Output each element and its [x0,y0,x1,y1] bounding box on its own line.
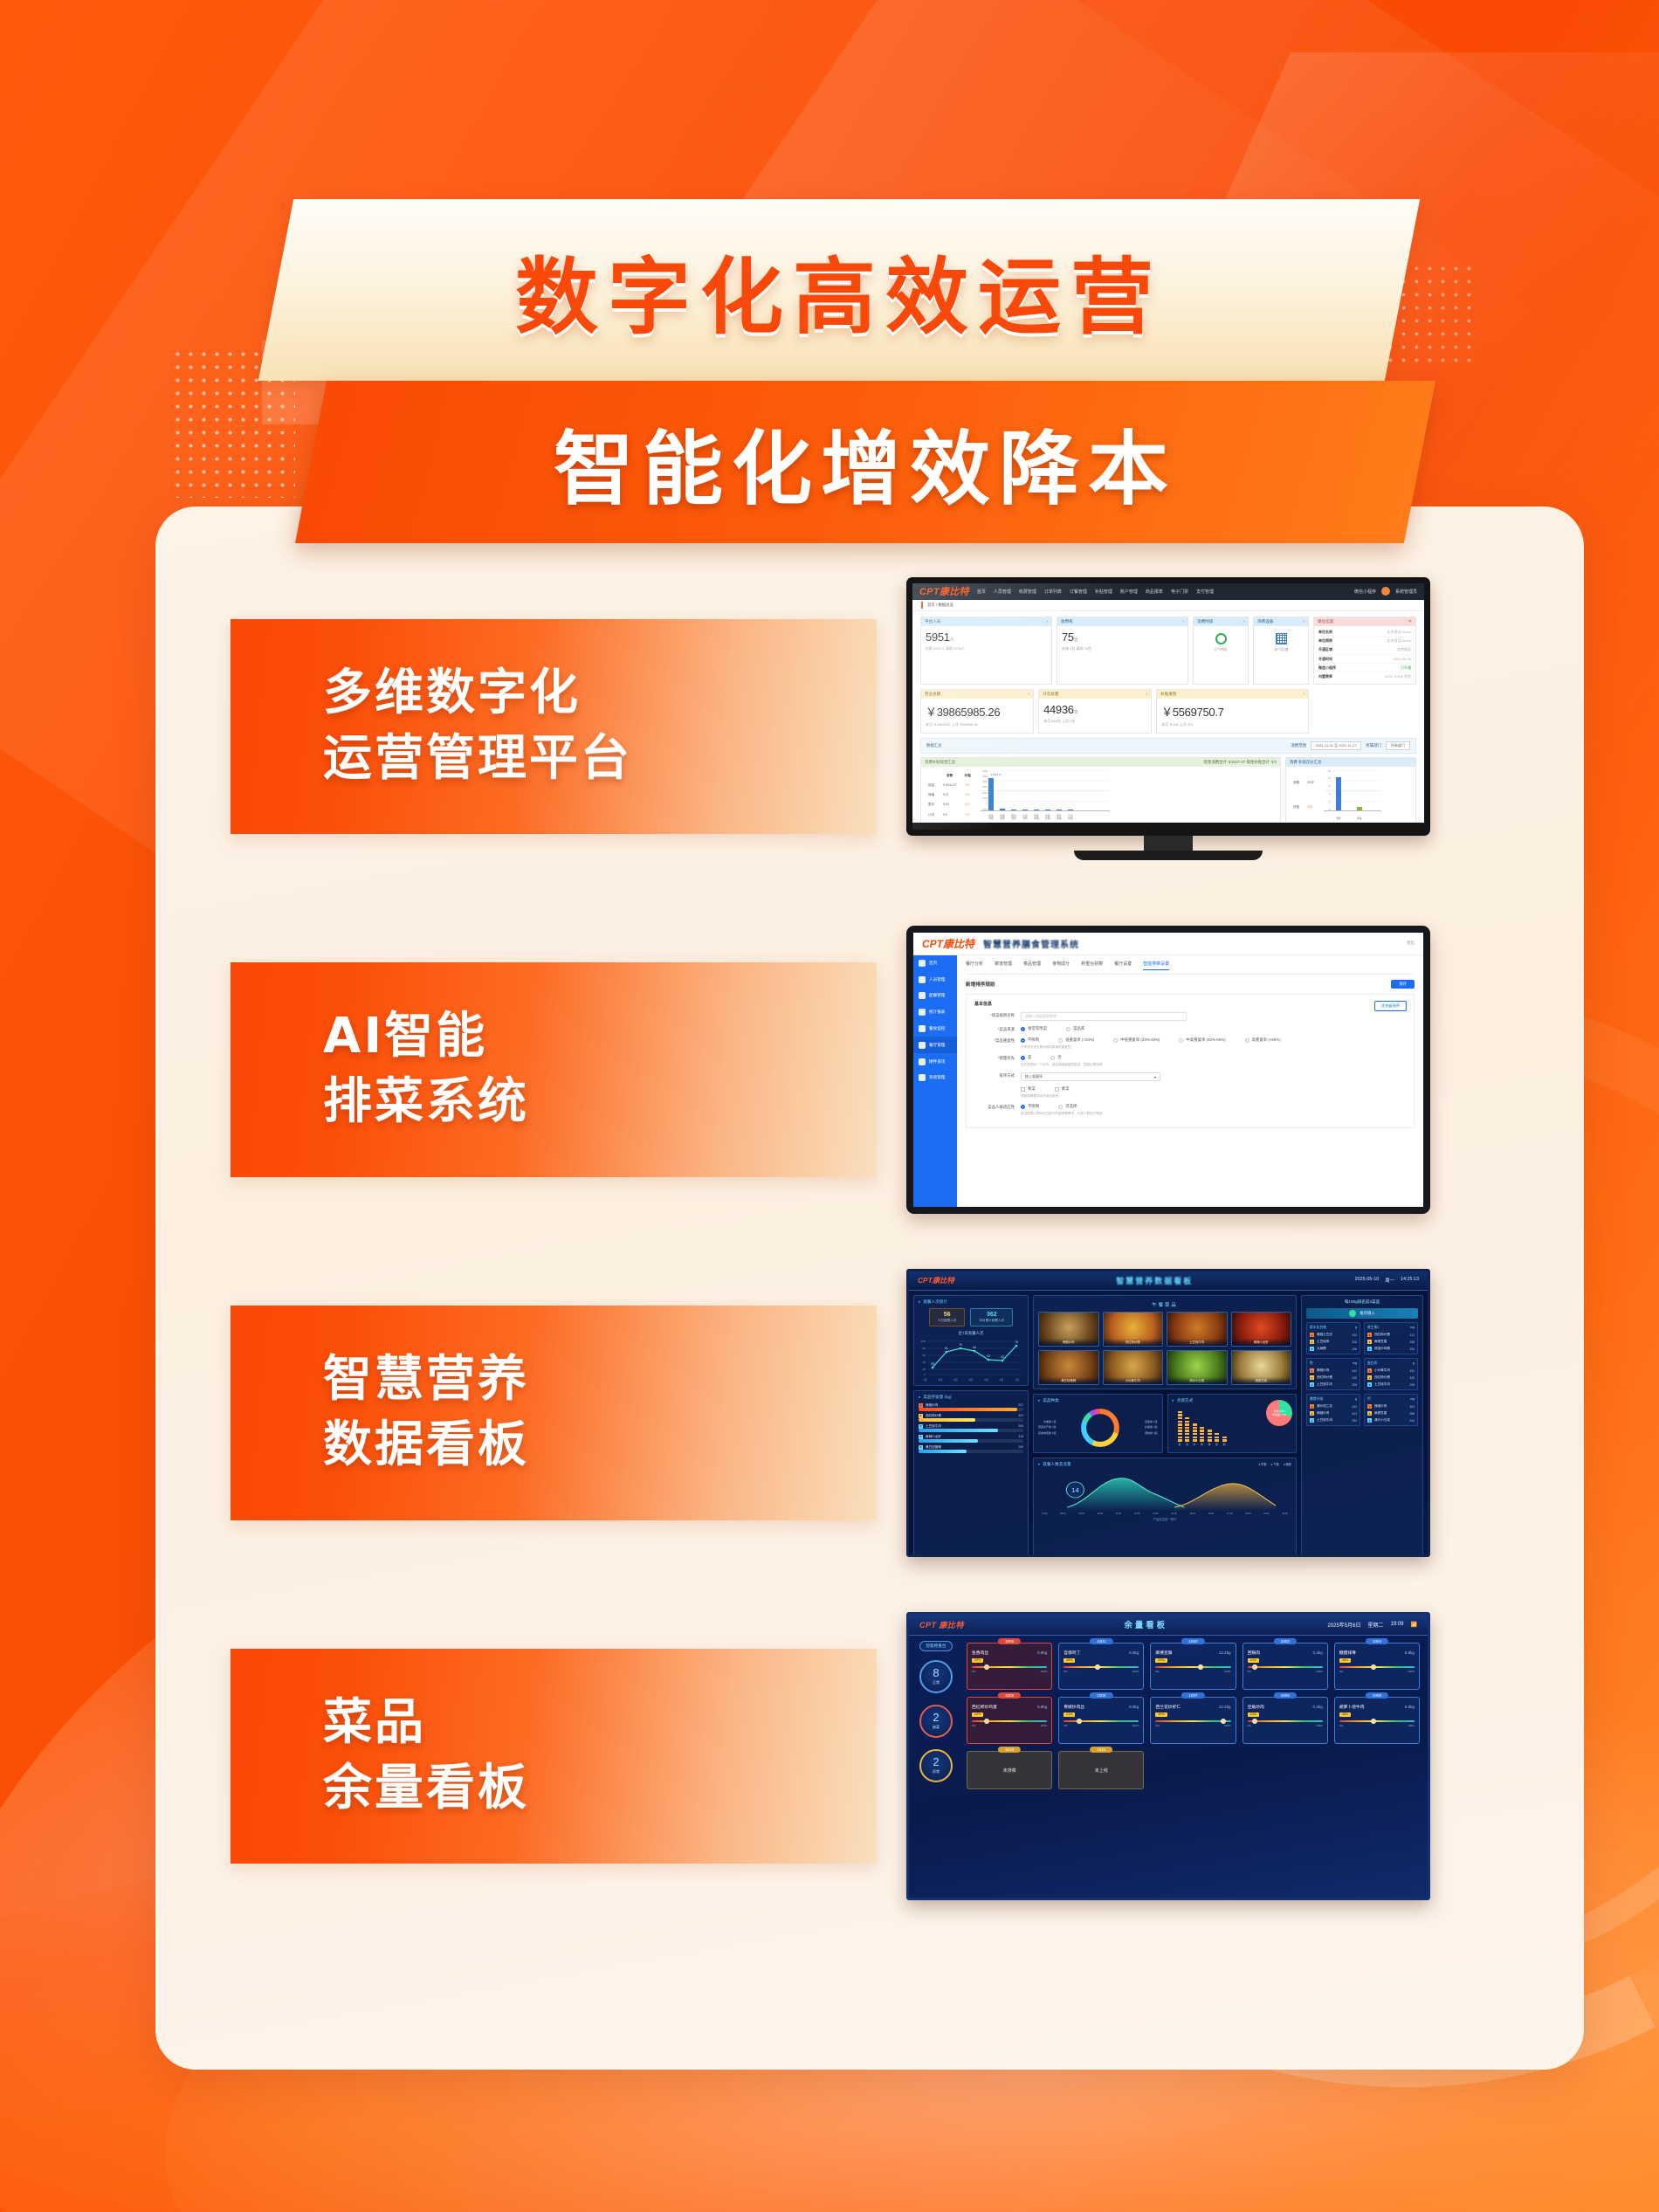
station-id: 1011 [1090,1747,1112,1753]
svg-text:100: 100 [921,1340,926,1343]
station-id: 1004 [1366,1638,1388,1644]
dish-tile[interactable]: 小炒黄牛肉 [1103,1350,1164,1385]
ops-body: 平台人员› 5951人 在职 3247人 离职 2704人 收费机› [912,611,1424,823]
title-line-2: 智能化增效降本 [311,381,1420,543]
station-weight: 12.2kg [1219,1705,1231,1709]
station-weight: 0.3kg [1313,1650,1323,1655]
sidebar-item-restaurant[interactable]: 餐厅管理 [913,1037,957,1053]
stat-card-header: 营业总额 [925,692,940,697]
cash-subsidy-table: 消费 补贴 现金￥5344.27￥0 储值￥27￥0 限次￥50￥0 计次￥6￥… [925,770,977,821]
radio-icon [1113,1038,1118,1043]
form-section-title: 基本信息 [974,1001,1406,1007]
nutrient-card: 膳食纤维g 1清炒西兰花432 2辣椒炒肉323 3土豆烧牛肉290 [1306,1394,1360,1426]
avatar[interactable] [1381,587,1390,596]
station-empty-label: 未上线 [1095,1768,1108,1774]
station-weight: 0.2kg [1313,1705,1323,1709]
pane-header: 消费补贴现金汇总 [925,760,955,765]
station-progress [1339,1720,1415,1723]
feature-card-3-line1: 智慧营养 [323,1347,877,1412]
ops-miniprogram-link[interactable]: 微信小程序 [1354,589,1376,595]
feature-card-2[interactable]: AI智能 排菜系统 [231,962,877,1177]
station-id: 1005 [998,1692,1021,1699]
stat-card-header: 收费机 [1061,619,1073,624]
unit-info-key: 内置费率 [1318,674,1332,679]
nutrition-right-col: 每100g排名前3菜品 推荐摄入 碳水化合物g 1辣椒土豆丝432 [1301,1295,1423,1555]
ai-sidebar: 首页 人员管理 配餐管理 统计报表 餐食监控 餐厅管理 硬件资讯 系统管理 [913,933,957,1207]
priority-sort-button[interactable]: 优先级排序 [1374,1001,1407,1011]
feature-rows: 多维数字化 运营管理平台 CPT康比特 首页 人员管理 收费管理 订单列表 [231,571,1530,1911]
unit-info-value: 已开通 [1401,665,1411,671]
dish-types-panel: 菜品种类 水果类 1道 蔬菜水产类 2道 畜禽肉蛋类 2道 [1033,1394,1163,1453]
chevron-right-icon: › [1046,619,1048,624]
stat-card-unit: 人 [950,637,954,643]
field-hint: 只考虑所选天数内相同菜谱的重复性 [1021,1045,1406,1050]
stat-card[interactable]: 收费机› 75台 在线 1台 离线 74台 [1057,617,1188,685]
screenshot-residual-board: CPT 康比特 余量看板 2025年5月6日 星期二 19:09 📶 智能称重台 [906,1612,1430,1900]
pie-label: 调味类 4道 [1145,1430,1158,1436]
flow-panel: 就餐人数及流量 ● 早餐 ● 午餐 ● 晚餐 [1033,1457,1297,1555]
dish-types-donut-chart [1081,1409,1119,1447]
stat-card-sub: 本月 ￥4663251 上月 ￥69666.15 [926,722,1029,727]
icon-stat-card[interactable]: 消费设备› 38个区域 [1253,617,1309,685]
tv-stand-base [1074,851,1263,860]
svg-text:42: 42 [1001,1355,1004,1359]
feature-card-1-line1: 多维数字化 [323,661,877,726]
unit-info-header: 单位信息 [1318,619,1333,624]
ops-brand-logo: CPT康比特 [919,584,969,598]
tab-smart-menu-settings[interactable]: 智能排菜设置 [1143,961,1169,970]
station-progress [1155,1720,1230,1723]
station-id: 1009 [1366,1692,1388,1699]
sidebar-item-hardware[interactable]: 硬件资讯 [913,1053,957,1070]
tab-dish-mgmt[interactable]: 菜品管理 [1023,961,1041,970]
table-row: 消费20次 [1291,772,1318,795]
svg-text:60: 60 [923,1354,926,1357]
ai-tabbar: 餐厅分析 菜谱管理 菜品管理 食物成分 称重台别菜 餐厅设置 智能排菜设置 [966,955,1415,975]
recommend-button[interactable]: 推荐摄入 [1306,1308,1418,1320]
station-weight: 6.8kg [1129,1650,1139,1655]
unit-info-key: 开通区域 [1318,647,1332,652]
stat-card-value: 44936 [1043,703,1074,716]
chevron-right-icon: › [1303,619,1304,624]
field-label: 菜品人群适应性 [988,1105,1015,1109]
nutrient-card: 碳水化合物g 1辣椒土豆丝432 2土豆烧肉328 3大闸蟹296 [1306,1322,1360,1354]
flow-area-chart: 14 [1038,1467,1291,1513]
tab-weighing-station[interactable]: 称重台别菜 [1081,961,1103,970]
station-progress [1064,1666,1139,1669]
radio-sales-yes[interactable]: 是 [1021,1055,1031,1060]
radio-icon [1058,1038,1063,1043]
dish-tile[interactable]: 清炒小白菜 [1167,1350,1228,1385]
residual-date: 2025年5月6日 [1327,1621,1360,1629]
station-cell[interactable]: 1000 鱼香肉丝0.8kg 20% 0%100% [967,1643,1052,1690]
kpi-today-diners: 56 今日就餐人次 [929,1308,966,1327]
nutrition-left-col: 就餐人次统计 56 今日就餐人次 362 本月累计就餐人次 [913,1295,1029,1555]
ops-navbar: CPT康比特 首页 人员管理 收费管理 订单列表 订餐管理 补贴管理 账户管理 … [912,583,1424,600]
legend-dinner: ● 晚餐 [1284,1462,1291,1466]
counter-abnormal: 2 异常 [919,1749,953,1782]
feature-row-4: 菜品 余量看板 CPT 康比特 余量看板 2025年5月6日 星期二 19:09… [231,1601,1530,1911]
field-hint: 优先选择近一个月内、菜品销量最高的菜品，提高出餐效率 [1021,1063,1406,1067]
sidebar-item-reports[interactable]: 统计报表 [913,1004,957,1021]
unit-info-value: 北京测试 Demo [1387,638,1411,644]
station-cell[interactable]: 1001 宫保鸡丁6.8kg 45% 0%100% [1058,1643,1144,1690]
station-progress [1248,1720,1323,1723]
ops-nav-item[interactable]: 人员管理 [994,589,1011,595]
table-row: 现金￥5344.27￥0 [926,782,975,789]
station-weight: 6.8kg [1405,1705,1415,1709]
station-percent: 20% [972,1712,983,1717]
home-icon [919,960,926,967]
icon-card-label: 38个区域 [1258,647,1304,652]
lunch-dish-grid: 辣椒炒肉 西红柿炒蛋 土豆烧牛肉 麻辣小龙虾 黄豆烧猪蹄 小炒黄牛肉 清炒小白菜… [1038,1312,1291,1385]
station-dish-name: 西红柿炒鸡蛋 [972,1704,997,1710]
svg-text:80: 80 [923,1347,926,1350]
stat-card-value: ￥39865985.26 [926,703,1029,720]
date-range-label: 消费范围 [1291,743,1306,748]
feature-card-1[interactable]: 多维数字化 运营管理平台 [231,619,877,834]
content-panel: 多维数字化 运营管理平台 CPT康比特 首页 人员管理 收费管理 订单列表 [155,506,1584,2070]
station-id: 1003 [1274,1638,1297,1644]
table-row: 限次￥50￥0 [926,801,975,809]
date-range-input[interactable]: 2021-11-01 至 2021-11-27 [1311,741,1362,750]
smile-icon [1349,1310,1356,1317]
feature-card-4-line1: 菜品 [323,1691,877,1755]
pane-header: 消费 补贴次分汇总 [1290,760,1321,765]
residual-body: 智能称重台 8 正常 2 缺菜 [909,1636,1428,1899]
breadcrumb-accent [921,602,923,609]
ranking-panel: 每100g排名前3菜品 推荐摄入 碳水化合物g 1辣椒土豆丝432 [1301,1295,1423,1555]
monitor-icon [919,1025,926,1032]
ops-stat-row-1: 平台人员› 5951人 在职 3247人 离职 2704人 收费机› [920,617,1416,685]
screenshot-ai-menu: CPT康比特 智慧营养膳食管理系统 登出 首页 人员管理 配餐管理 统计报表 餐… [906,926,1430,1214]
summary-label: 数据汇总 [926,743,942,748]
svg-text:14: 14 [1071,1486,1079,1493]
field-dish-category: 荤菜 素菜 请选择需要排序的菜品类型 [974,1086,1406,1099]
checkbox-icon [1021,1087,1025,1092]
dish-stock-title: 菜品存留量 (kg) [919,1395,1023,1400]
residual-sidebar: 智能称重台 8 正常 2 缺菜 [909,1636,963,1899]
residual-weekday: 星期二 [1367,1621,1383,1629]
sidebar-item-system[interactable]: 系统管理 [913,1070,957,1086]
radio-repeat-midhigh[interactable]: 中高重复率 (40%-60%) [1179,1037,1225,1043]
chevron-right-icon: › [1182,619,1184,624]
ops-nav-item[interactable]: 首页 [977,589,986,595]
ops-charts-row: 消费补贴现金汇总 现金消费合计 ￥5347.27 现金补贴合计 ￥0 [920,757,1416,823]
feature-row-1: 多维数字化 运营管理平台 CPT康比特 首页 人员管理 收费管理 订单列表 [231,571,1530,881]
ranking-title: 每100g排名前3菜品 [1306,1299,1418,1305]
diners-panel: 就餐人次统计 56 今日就餐人次 362 本月累计就餐人次 [913,1295,1029,1386]
radio-repeat-midlow[interactable]: 中低重复率 (20%-40%) [1113,1037,1160,1043]
grid-icon [1276,633,1287,644]
kpi-month-diners: 362 本月累计就餐人次 [970,1308,1013,1327]
radio-source-canteen[interactable]: 食堂常用菜 [1021,1026,1047,1031]
tab-restaurant-analysis[interactable]: 餐厅分析 [966,961,983,970]
laptop-bezel: CPT康比特 智慧营养膳食管理系统 登出 首页 人员管理 配餐管理 统计报表 餐… [906,926,1430,1214]
stat-card-value: 75 [1062,631,1074,644]
checkbox-meat[interactable]: 荤菜 [1021,1086,1036,1092]
field-dish-source: *菜品来源 食堂常用菜 菜品库 [974,1026,1406,1032]
stock-row: 5 黄豆烧猪蹄 260 [919,1445,1023,1450]
checkbox-icon [1055,1087,1059,1092]
save-button[interactable]: 保存 [1391,980,1415,989]
station-weight: 0.8kg [1037,1650,1047,1655]
ai-menu-screen: CPT康比特 智慧营养膳食管理系统 登出 首页 人员管理 配餐管理 统计报表 餐… [913,933,1423,1207]
svg-text:20: 20 [923,1368,926,1371]
field-hint: 菜品根据人群特征匹配不同营养素需求，可按人群进行筛选 [1021,1112,1406,1116]
icon-card-header: 消费时段 [1197,619,1213,624]
screenshot-nutrition-board: CPT康比特 智慧营养数据看板 2025-05-10 周一 14:25:13 [906,1269,1430,1557]
station-weight: 6.8kg [1129,1705,1139,1709]
dish-tile[interactable]: 辣椒炒肉 [1038,1312,1099,1347]
station-percent: 21% [1064,1712,1075,1717]
ai-brand-logo: CPT康比特 [922,936,974,951]
unit-info-key: 微信小程序 [1318,665,1336,671]
field-label: 排序方式 [999,1073,1015,1078]
radio-sales-no[interactable]: 否 [1050,1055,1061,1060]
residual-board-screen: CPT 康比特 余量看板 2025年5月6日 星期二 19:09 📶 智能称重台 [906,1612,1430,1900]
unit-info-key: 开通时间 [1318,657,1332,662]
users-icon [919,976,926,983]
table-row: 补贴2次 [1291,796,1318,819]
station-id: 1000 [998,1638,1021,1644]
field-rule-name: *排菜规则名称 请输入排菜规则名称 [974,1012,1406,1021]
ops-nav-item[interactable]: 电子门票 [1171,589,1188,595]
stat-card-header: 补贴发放 [1160,692,1176,697]
count-summary-bar-chart: 20 15 10 5 0 -5 [1324,770,1381,821]
radio-icon [1058,1105,1063,1109]
sidebar-item-staff[interactable]: 人员管理 [913,971,957,988]
sidebar-item-monitor[interactable]: 餐食监控 [913,1021,957,1037]
field-label: 菜品来源 [999,1027,1015,1031]
station-dish-name: 胡萝卜烧牛肉 [1339,1704,1365,1710]
lunch-title: 午餐菜品 [1038,1301,1291,1308]
nutrient-card: 钙mg 1辣椒炒肉303 2麻婆豆腐286 3清炒小白菜244 [1364,1394,1418,1426]
sort-order-select[interactable]: 按上架顺序 ▾ [1021,1072,1160,1081]
feature-card-4-line2: 余量看板 [323,1756,877,1821]
dish-tile[interactable]: 麻辣小龙虾 [1231,1312,1292,1347]
icon-stat-card[interactable]: 消费时段› 5个时段 [1193,617,1249,685]
radio-icon [1021,1038,1025,1043]
stat-card-sub: 本月 940次 上月 0次 [1043,719,1146,724]
svg-text:61: 61 [945,1347,948,1350]
stat-card[interactable]: 补贴发放› ￥5569750.7 本月 ￥102 上月 ￥0 [1156,689,1309,734]
pane-meta: 现金消费合计 ￥5347.27 现金补贴合计 ￥0 [1204,760,1277,765]
feature-card-4[interactable]: 菜品 余量看板 [231,1649,877,1864]
dish-stock-panel: 菜品存留量 (kg) 1 辣椒炒肉 527 2 西红柿炒蛋 [913,1390,1029,1555]
lunch-dishes-panel: 午餐菜品 辣椒炒肉 西红柿炒蛋 土豆烧牛肉 麻辣小龙虾 黄豆烧猪蹄 小炒黄牛肉 … [1033,1295,1297,1389]
station-progress [1339,1666,1415,1669]
cash-subsidy-bar-chart: 6000 5000 4000 3000 2000 1000 0 [981,770,1110,821]
cutlery-icon [919,1042,926,1049]
radio-icon [1021,1056,1025,1060]
stock-row: 1 辣椒炒肉 527 [919,1403,1023,1408]
ai-main: 餐厅分析 菜谱管理 菜品管理 食物成分 称重台别菜 餐厅设置 智能排菜设置 新 [957,933,1423,1207]
stat-card[interactable]: 计次总量› 44936次 本月 940次 上月 0次 [1038,689,1152,734]
station-grid: 1000 鱼香肉丝0.8kg 20% 0%100% 1001 [963,1636,1428,1899]
station-progress [972,1666,1047,1669]
stat-card[interactable]: 营业总额› ￥39865985.26 本月 ￥4663251 上月 ￥69666… [920,689,1034,734]
unit-info-key: 单位名称 [1318,630,1332,635]
gear-icon [919,1074,926,1081]
breadcrumb-text: 首页 / 数据总览 [927,603,953,608]
diners-chart-title: 近7日就餐人次 [919,1331,1023,1336]
feature-card-3[interactable]: 智慧营养 数据看板 [231,1306,877,1520]
nutrient-card: 铁mg 1辣椒炒肉432 2西红柿炒蛋328 3土豆烧牛肉298 [1306,1358,1360,1390]
stat-card[interactable]: 平台人员› 5951人 在职 3247人 离职 2704人 [920,617,1052,685]
radio-repeat-none[interactable]: 不限制 [1021,1037,1039,1043]
edit-icon[interactable]: ✎ [1408,619,1412,624]
device-icon [919,1058,926,1065]
ops-nav-item[interactable]: 收费管理 [1019,589,1036,595]
field-repeat-rate: *菜品重复性 不限制 低重复率 (<20%) 中低重复率 (20%-40%) 中… [974,1037,1406,1050]
station-percent: 90% [1155,1712,1167,1717]
radio-repeat-low[interactable]: 低重复率 (<20%) [1058,1037,1094,1043]
station-cell[interactable]: 1009 胡萝卜烧牛肉6.8kg 45% 0%100% [1334,1697,1420,1744]
station-id: 1001 [1090,1638,1112,1644]
residual-time: 19:09 [1391,1622,1404,1627]
radio-icon [1179,1038,1183,1043]
radio-repeat-high[interactable]: 高重复率 (>60%) [1245,1037,1281,1043]
ops-summary-bar: 数据汇总 消费范围 2021-11-01 至 2021-11-27 所属部门 所… [920,738,1416,754]
radio-source-library[interactable]: 菜品库 [1066,1026,1084,1031]
dept-label: 所属部门 [1366,743,1381,748]
table-header [926,772,939,780]
residual-title: 余量看板 [964,1618,1327,1630]
nutrition-brand-logo: CPT康比特 [918,1275,954,1285]
ops-user-menu[interactable]: 系统管理员 [1395,589,1417,595]
station-percent: 45% [1064,1658,1075,1663]
chevron-right-icon: › [1146,692,1148,697]
svg-text:70: 70 [959,1343,962,1347]
field-sales-priority: *销量优先 是 否 优先选择近一个月内、菜品销量最高的菜品，提高出餐效率 [974,1055,1406,1067]
dish-tile[interactable]: 湘蒸豆腐 [1231,1350,1292,1385]
station-progress [1064,1720,1139,1723]
station-weight: 12.2kg [1219,1650,1231,1655]
station-cell[interactable]: 1005 西红柿炒鸡蛋0.8kg 20% 0%100% [967,1697,1052,1744]
table-row: 计次￥6￥0 [926,810,975,818]
ops-nav-item[interactable]: 订餐管理 [1070,589,1087,595]
stock-row: 2 西红柿炒蛋 302 [919,1414,1023,1418]
checkbox-veg[interactable]: 素菜 [1055,1086,1070,1092]
station-id: 1002 [1181,1638,1204,1644]
count-summary-table: 消费20次 补贴2次 [1290,770,1320,821]
stat-card-value: 5951 [926,631,950,644]
ai-form: 优先级排序 基本信息 *排菜规则名称 请输入排菜规则名称 [966,994,1415,1128]
station-cell[interactable]: 1004 糖醋排骨6.8kg 45% 0%100% [1334,1643,1420,1690]
title-banner-secondary: 智能化增效降本 [295,381,1435,543]
ai-content: 餐厅分析 菜谱管理 菜品管理 食物成分 称重台别菜 餐厅设置 智能排菜设置 新 [957,955,1423,1207]
ops-nav-item[interactable]: 商品报表 [1146,589,1163,595]
table-row: 储值￥27￥0 [926,791,975,799]
radio-crowd-select[interactable]: 可选择 [1058,1104,1077,1109]
station-weight: 6.8kg [1405,1650,1415,1655]
stat-card-unit: 次 [1074,710,1078,715]
station-dish-name: 麻婆豆腐 [1155,1650,1172,1656]
sidebar-item-catering[interactable]: 配餐管理 [913,988,957,1004]
screenshot-ops-platform: CPT康比特 首页 人员管理 收费管理 订单列表 订餐管理 补贴管理 账户管理 … [906,582,1430,871]
station-cell[interactable]: 1003 回锅肉0.3kg 10% 0%100% [1243,1643,1328,1690]
ops-nav-item[interactable]: 订单列表 [1044,589,1062,595]
unit-info-value: 3.8% ￥102 资金 [1385,674,1411,679]
feature-card-3-line2: 数据看板 [323,1413,877,1478]
stat-card-sub: 在职 3247人 离职 2704人 [926,646,1047,651]
station-cell[interactable]: 1008 豆角炒肉0.2kg 10% 0%100% [1243,1697,1328,1744]
rule-name-input[interactable]: 请输入排菜规则名称 [1021,1012,1187,1021]
station-percent: 45% [1339,1712,1351,1717]
station-id: 1010 [998,1747,1021,1753]
cash-subsidy-pane: 消费补贴现金汇总 现金消费合计 ￥5347.27 现金补贴合计 ￥0 [920,757,1281,823]
residual-brand-logo: CPT 康比特 [919,1619,964,1630]
field-label: 排菜规则名称 [992,1013,1015,1017]
station-empty-label: 未排菜 [1003,1768,1016,1774]
unit-info-value: 2021-02-26 [1394,657,1411,662]
station-progress [1248,1666,1323,1669]
station-cell[interactable]: 1007 西兰花炒虾仁12.2kg 90% 0%100% [1150,1697,1236,1744]
station-dish-name: 西兰花炒虾仁 [1155,1704,1181,1710]
feature-row-3: 智慧营养 数据看板 CPT康比特 智慧营养数据看板 2025-05-10 周一 … [231,1258,1530,1568]
counter-missing: 2 缺菜 [919,1705,953,1738]
radio-icon [1245,1038,1249,1043]
station-dish-name: 糖醋排骨 [1339,1650,1356,1656]
ops-nav-item[interactable]: 账户管理 [1120,589,1138,595]
stock-row: 3 土豆烧牛肉 426 [919,1424,1023,1429]
radio-crowd-none[interactable]: 不限制 [1021,1104,1039,1109]
ai-page-head: 新增排序规则 保存 [966,975,1415,995]
nutrition-weekday: 周一 [1385,1277,1394,1284]
station-dish-name: 豆角炒肉 [1248,1704,1264,1710]
feature-card-2-line1: AI智能 [323,1004,877,1069]
tab-food-composition[interactable]: 食物成分 [1052,961,1070,970]
dish-tile[interactable]: 西红柿炒蛋 [1103,1312,1164,1347]
dish-tile[interactable]: 土豆烧牛肉 [1167,1312,1228,1347]
stat-card-sub: 本月 ￥102 上月 ￥0 [1161,722,1304,727]
title-banner-primary: 数字化高效运营 [258,199,1420,381]
svg-text:0: 0 [924,1373,926,1376]
station-cell[interactable]: 1006 青椒炒肉丝6.8kg 21% 0%100% [1058,1697,1144,1744]
tab-recipe-mgmt[interactable]: 菜谱管理 [995,961,1012,970]
nutrient-card: 维生素Cmg 1西红柿炒蛋312 2麻婆豆腐258 3蒜苗炒鸡蛋194 [1364,1322,1418,1354]
residual-header: CPT 康比特 余量看板 2025年5月6日 星期二 19:09 📶 [909,1615,1428,1636]
unit-info-value: 北京测试 Demo [1387,630,1411,635]
feature-card-1-line2: 运营管理平台 [323,727,877,791]
station-dish-name: 宫保鸡丁 [1064,1650,1080,1656]
stat-card-unit: 台 [1074,637,1078,643]
clock-icon [1215,633,1227,644]
ai-logout-link[interactable]: 登出 [1407,941,1415,946]
unit-info-key: 单位简称 [1318,638,1332,644]
nutrient-card: 蛋白质g 1小炒黄牛肉432 2西红柿炒蛋328 3土豆烧牛肉298 [1364,1358,1418,1390]
station-dish-name: 鱼香肉丝 [972,1650,988,1656]
chart-icon [919,1009,926,1016]
station-cell[interactable]: 1011 未上线 [1058,1751,1144,1789]
unit-info-card: 单位信息✎ 单位名称北京测试 Demo 单位简称北京测试 Demo 开通区域北京… [1313,617,1416,685]
dept-select[interactable]: 所有部门 [1386,741,1410,750]
field-label: 销量优先 [999,1056,1015,1060]
ops-nav-item[interactable]: 支付管理 [1196,589,1214,595]
ai-system-name: 智慧营养膳食管理系统 [983,937,1079,950]
ops-platform-screen: CPT康比特 首页 人员管理 收费管理 订单列表 订餐管理 补贴管理 账户管理 … [912,583,1424,823]
diners-panel-title: 就餐人次统计 [919,1299,1023,1305]
nutrition-body: 就餐人次统计 56 今日就餐人次 362 本月累计就餐人次 [909,1291,1428,1557]
station-cell[interactable]: 1002 麻婆豆腐12.2kg 60% 0%100% [1150,1643,1236,1690]
diners-line-chart: 2561 7064 4342 76 10080 6040 [919,1338,1023,1378]
dish-tile[interactable]: 黄豆烧猪蹄 [1038,1350,1099,1385]
station-cell[interactable]: 1010 未排菜 [967,1751,1052,1789]
tab-restaurant-settings[interactable]: 餐厅设置 [1114,961,1132,970]
sidebar-item-home[interactable]: 首页 [913,955,957,972]
ops-nav-item[interactable]: 补贴管理 [1095,589,1112,595]
